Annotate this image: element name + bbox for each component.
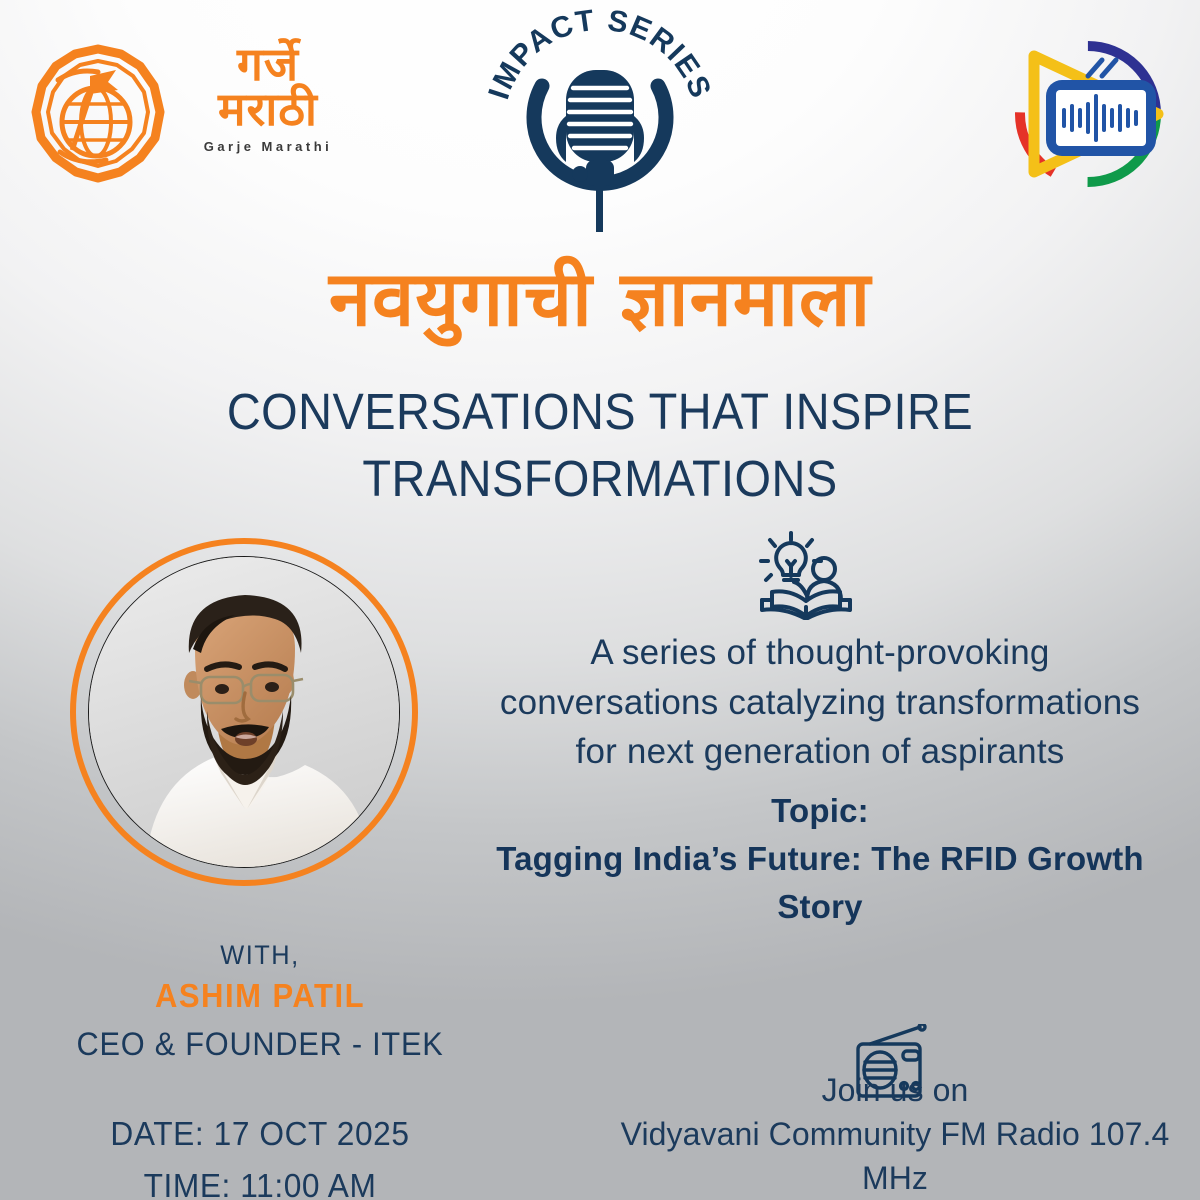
vidyavani-play-radio-logo — [998, 24, 1178, 204]
poster-title-english-line1: CONVERSATIONS THAT INSPIRE — [140, 378, 1060, 445]
topic-label: Topic: — [452, 787, 1188, 835]
speaker-photo — [70, 538, 418, 886]
series-description-line1: A series of thought-provoking — [452, 628, 1188, 678]
join-info: Join us on Vidyavani Community FM Radio … — [590, 1068, 1200, 1200]
speaker-name: ASHIM PATIL — [44, 977, 476, 1015]
garje-marathi-devanagari-line2: मराठी — [178, 87, 358, 132]
poster-title-english-line2: TRANSFORMATIONS — [140, 445, 1060, 512]
event-time: TIME: 11:00 AM — [39, 1167, 481, 1200]
logo-row: गर्जे मराठी Garje Marathi IMPACT SERIES — [0, 0, 1200, 260]
topic-block: Topic: Tagging India’s Future: The RFID … — [452, 787, 1188, 932]
join-line2: Vidyavani Community FM Radio 107.4 MHz — [590, 1112, 1200, 1200]
speaker-details: WITH, ASHIM PATIL CEO & FOUNDER - ITEK D… — [30, 940, 490, 1200]
globe-flag-emblem-icon — [28, 44, 168, 184]
join-line1: Join us on — [590, 1068, 1200, 1112]
with-label: WITH, — [44, 940, 476, 971]
topic-title-line1: Tagging India’s Future: The RFID Growth — [452, 835, 1188, 883]
event-poster: गर्जे मराठी Garje Marathi IMPACT SERIES — [0, 0, 1200, 1200]
series-description: A series of thought-provoking conversati… — [452, 628, 1188, 777]
topic-title-line2: Story — [452, 883, 1188, 931]
garje-marathi-latin-label: Garje Marathi — [178, 139, 358, 154]
event-date: DATE: 17 OCT 2025 — [39, 1115, 481, 1153]
series-description-line2: conversations catalyzing transformations — [452, 678, 1188, 728]
idea-book-icon — [750, 528, 862, 620]
speaker-role: CEO & FOUNDER - ITEK — [39, 1026, 481, 1063]
garje-marathi-wordmark: गर्जे मराठी Garje Marathi — [178, 42, 358, 154]
impact-series-logo: IMPACT SERIES — [480, 8, 720, 248]
poster-title-english: CONVERSATIONS THAT INSPIRE TRANSFORMATIO… — [140, 378, 1060, 513]
series-description-line3: for next generation of aspirants — [452, 727, 1188, 777]
speaker-photo-outer-ring — [70, 538, 418, 886]
poster-title-marathi: नवयुगाची ज्ञानमाला — [0, 258, 1200, 340]
garje-marathi-devanagari-line1: गर्जे — [178, 42, 358, 87]
garje-marathi-logo: गर्जे मराठी Garje Marathi — [28, 40, 358, 190]
